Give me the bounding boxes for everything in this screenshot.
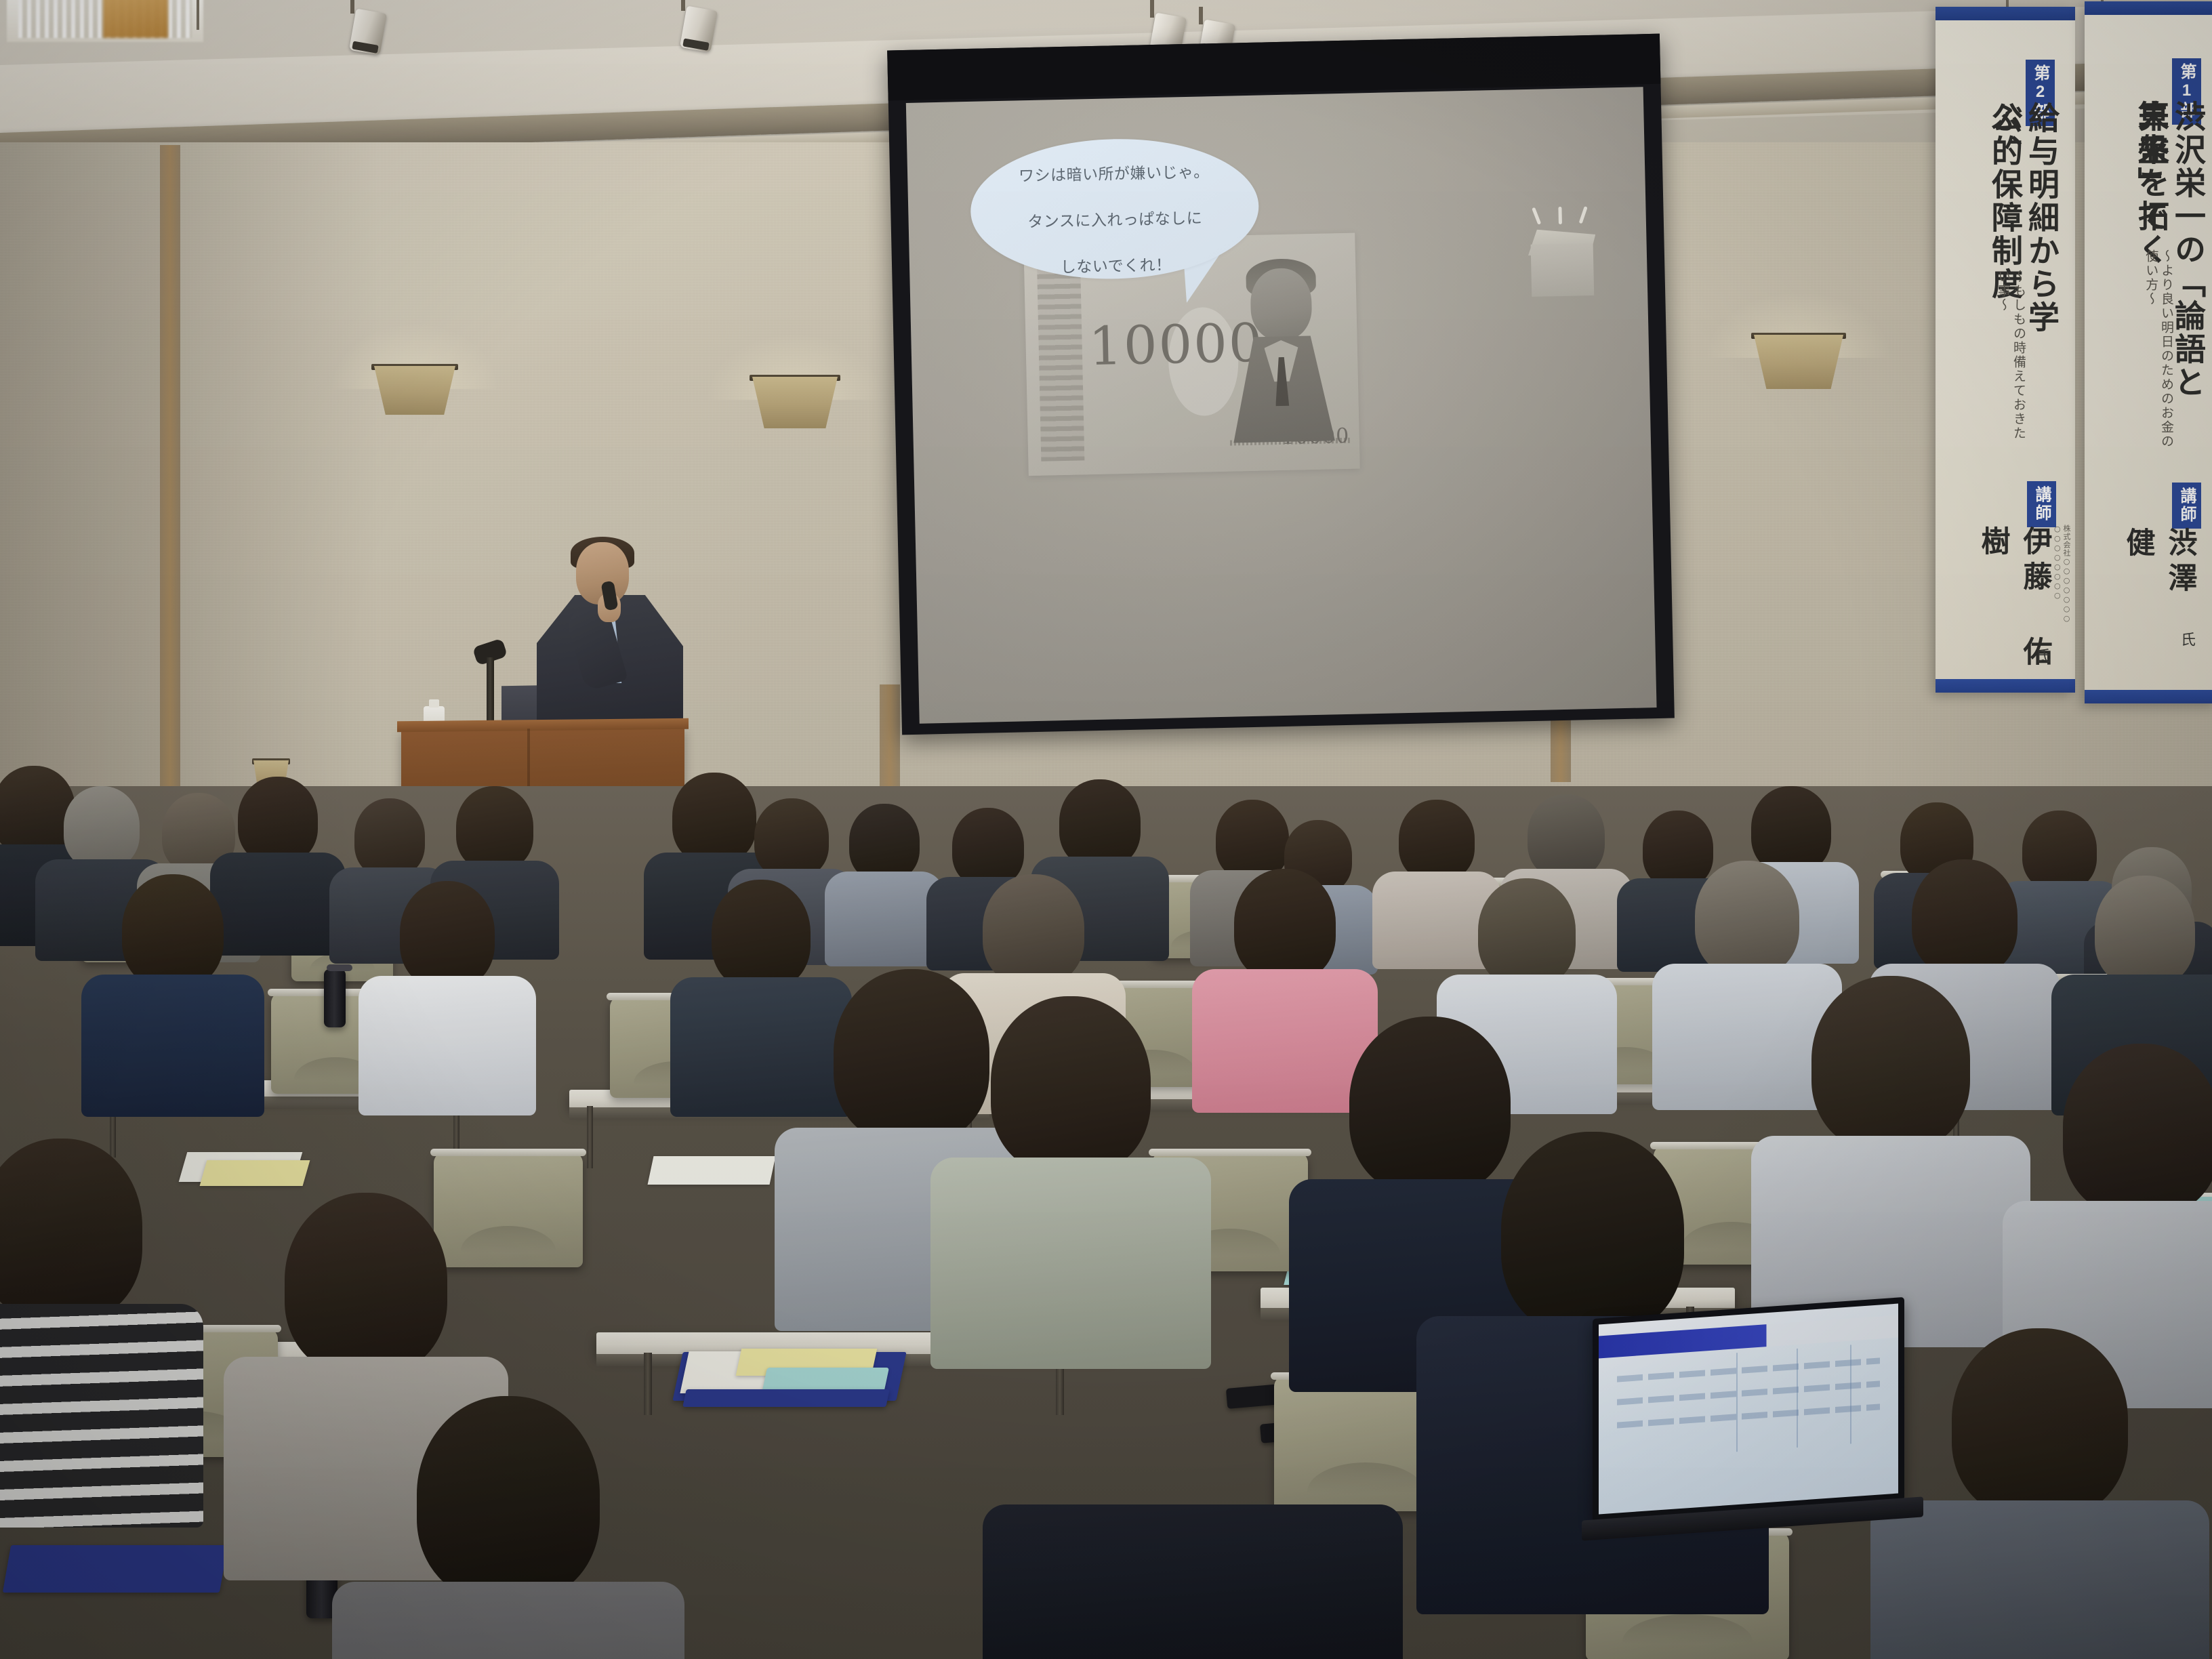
banner-1-speaker-suffix: 氏 (2175, 632, 2197, 647)
banner-part-1: 第1部 渋沢栄一の「論語と算盤」で 未来を拓く 〜より良い明日のためのお金の使い… (2085, 1, 2212, 703)
audience-member (393, 1396, 623, 1659)
audience-member (834, 804, 935, 961)
banner-1-speaker-name: 渋澤 健 (2117, 527, 2201, 642)
presentation-slide: 10000 10000 ワシは暗い所が嫌いじゃ。 タンスに (906, 87, 1657, 724)
banner-part-2: 第2部 給与明細から学ぶ、 公的保障制度 〜もしもの時備えておきたい事〜 講師 … (1935, 7, 2075, 693)
wall-sconce (752, 377, 838, 428)
banner-1-subtitle: 〜より良い明日のためのお金の使い方〜 (2143, 249, 2174, 453)
speech-bubble-line-2: タンスに入れっぱなしに (1027, 209, 1203, 231)
conference-folder (3, 1545, 228, 1593)
banknote-denomination-small: 10000 (1281, 424, 1349, 449)
speech-bubble-line-1: ワシは暗い所が嫌いじゃ。 (1019, 163, 1210, 185)
laptop-screen (1599, 1304, 1898, 1515)
audience-member (1789, 976, 1992, 1342)
banner-2-affiliation: 株式会社○○○○○○○ ○○○○○○○○ (2053, 525, 2072, 640)
wall-shadow (0, 142, 380, 820)
wall-sconce (374, 366, 455, 415)
banner-2-speaker-suffix: 氏 (2030, 648, 2052, 663)
banner-1-speaker-badge: 講師 (2172, 483, 2201, 529)
ceiling-chandelier (7, 0, 203, 64)
audience-member (1925, 1328, 2155, 1659)
ceiling-rod (197, 0, 199, 30)
banner-2-subtitle: 〜もしもの時備えておきたい事〜 (1995, 270, 2026, 450)
tumbler-bottle (324, 969, 346, 1027)
handout-paper (648, 1156, 776, 1185)
audience-member (1050, 1504, 1335, 1659)
handout-paper (200, 1160, 310, 1186)
speech-bubble: ワシは暗い所が嫌いじゃ。 タンスに入れっぱなしに しないでくれ！ (970, 136, 1261, 281)
banknote-image: 10000 10000 (1023, 233, 1360, 476)
audience-member (969, 996, 1172, 1362)
lecture-hall-photo: 10000 10000 ワシは暗い所が嫌いじゃ。 タンスに (0, 0, 2212, 1659)
banknote-portrait (1223, 252, 1339, 443)
wall-sconce (1754, 335, 1843, 389)
banknote-denomination: 10000 (1088, 313, 1264, 378)
projection-screen-surface: 10000 10000 ワシは暗い所が嫌いじゃ。 タンスに (906, 87, 1657, 724)
attendee-laptop[interactable] (1593, 1308, 1904, 1511)
speech-bubble-tail (1169, 242, 1222, 308)
projection-screen: 10000 10000 ワシは暗い所が嫌いじゃ。 タンスに (887, 34, 1675, 735)
conference-folder (682, 1389, 890, 1407)
audience-member (691, 880, 831, 1113)
banner-2-speaker-badge: 講師 (2027, 481, 2056, 527)
audience-member (102, 874, 244, 1111)
speech-bubble-line-3: しないでくれ！ (1061, 256, 1172, 276)
money-box-icon (1524, 206, 1600, 301)
audience-member (0, 1139, 163, 1518)
audience-member (380, 881, 515, 1111)
presenter-at-podium (535, 542, 684, 745)
wall-column-trim (160, 145, 180, 829)
